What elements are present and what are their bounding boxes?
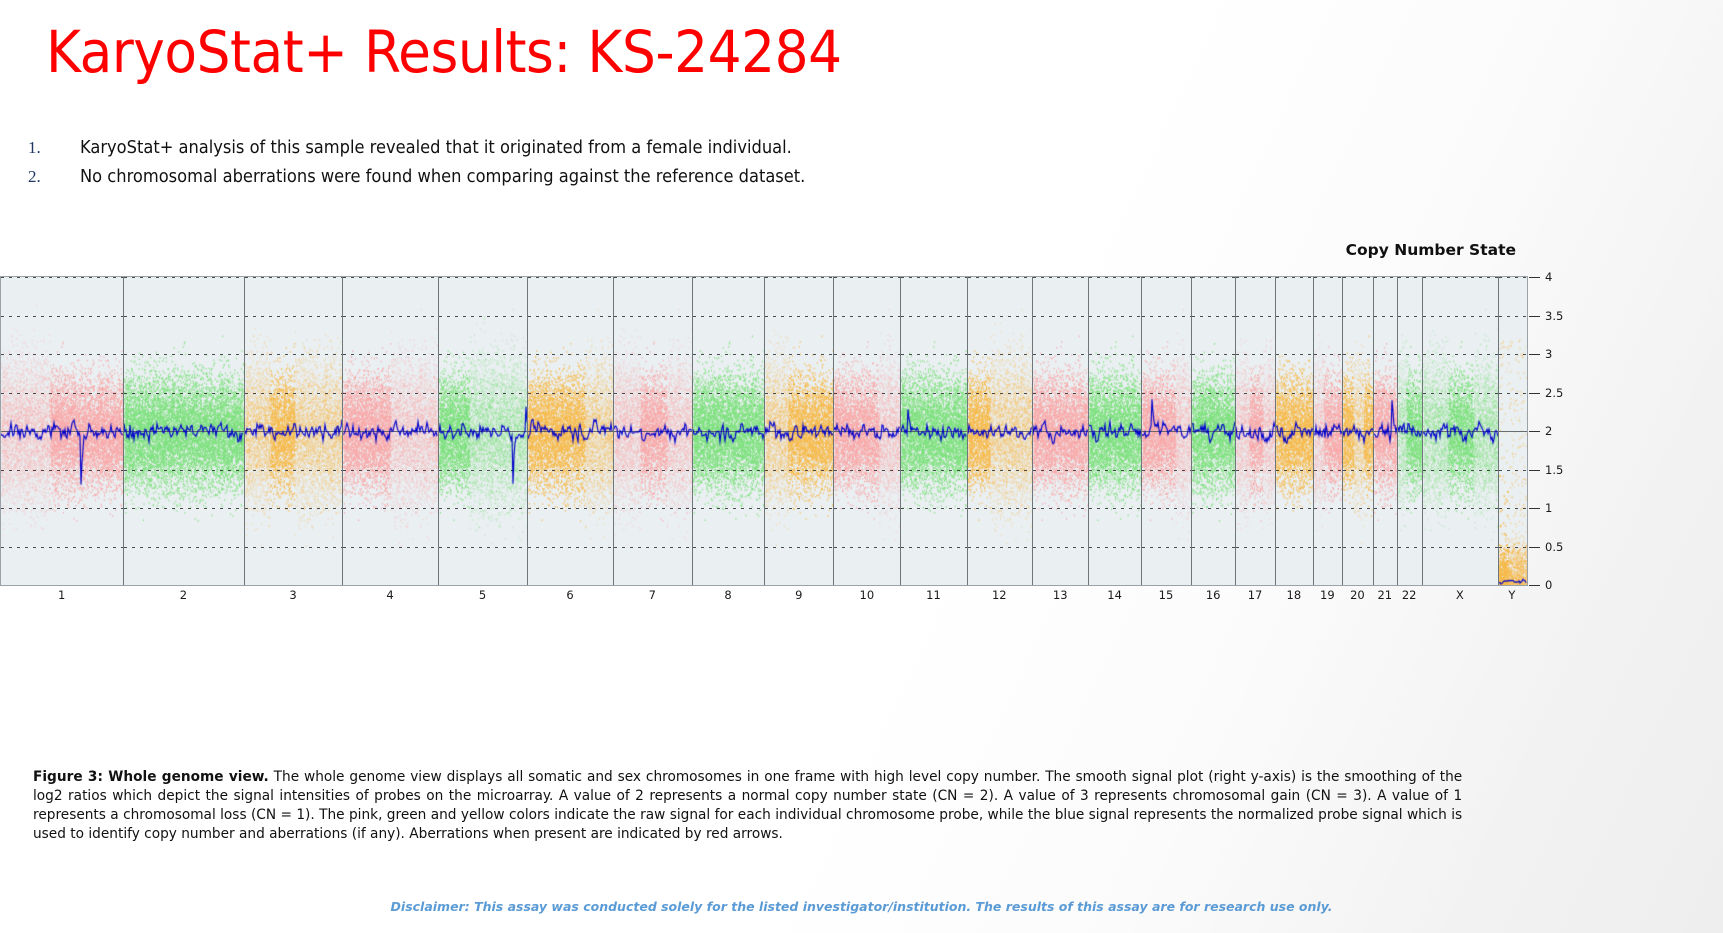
list-item-number: 1. (28, 138, 80, 158)
x-axis-label-1: 1 (58, 588, 65, 602)
smoothed-signal-line (1142, 277, 1192, 585)
chart-legend-title: Copy Number State (1346, 241, 1516, 259)
x-axis-label-20: 20 (1350, 588, 1365, 602)
chromosome-band-12 (968, 277, 1033, 585)
smoothed-signal-line (528, 277, 613, 585)
y-axis-tick-label: 4 (1545, 270, 1552, 284)
chromosome-band-9 (765, 277, 834, 585)
x-axis-label-3: 3 (289, 588, 296, 602)
smoothed-signal-line (1, 277, 124, 585)
chromosome-band-16 (1192, 277, 1236, 585)
x-axis-label-X: X (1456, 588, 1464, 602)
chromosome-band-13 (1033, 277, 1089, 585)
chart-plot-area (0, 276, 1528, 586)
chromosome-band-5 (439, 277, 529, 585)
y-axis-tick-label: 0 (1545, 578, 1552, 592)
x-axis-label-14: 14 (1107, 588, 1122, 602)
chromosome-band-Y (1499, 277, 1527, 585)
smoothed-signal-line (968, 277, 1033, 585)
y-axis-tick-label: 3.5 (1545, 309, 1563, 323)
tick-dash-icon (1529, 431, 1540, 432)
x-axis-label-19: 19 (1320, 588, 1335, 602)
smoothed-signal-line (1236, 277, 1276, 585)
tick-dash-icon (1529, 547, 1540, 548)
x-axis-label-21: 21 (1377, 588, 1392, 602)
chromosome-band-7 (614, 277, 693, 585)
x-axis-label-Y: Y (1508, 588, 1515, 602)
smoothed-signal-line (439, 277, 529, 585)
chromosome-band-11 (901, 277, 967, 585)
x-axis-label-6: 6 (566, 588, 573, 602)
y-axis-tick-3: 3 (1529, 347, 1552, 361)
smoothed-signal-line (343, 277, 438, 585)
smoothed-signal-line (1499, 277, 1527, 585)
x-axis-label-18: 18 (1287, 588, 1302, 602)
y-axis-tick-0.5: 0.5 (1529, 540, 1563, 554)
x-axis-label-13: 13 (1053, 588, 1068, 602)
y-axis: 43.532.521.510.50 (1529, 276, 1609, 586)
y-axis-tick-0: 0 (1529, 578, 1552, 592)
smoothed-signal-line (614, 277, 693, 585)
smoothed-signal-line (124, 277, 244, 585)
x-axis-label-15: 15 (1159, 588, 1174, 602)
tick-dash-icon (1529, 316, 1540, 317)
smoothed-signal-line (765, 277, 834, 585)
y-axis-tick-label: 1 (1545, 501, 1552, 515)
list-item-label: KaryoStat+ analysis of this sample revea… (80, 138, 792, 158)
x-axis-label-9: 9 (795, 588, 802, 602)
disclaimer-text: Disclaimer: This assay was conducted sol… (0, 899, 1723, 914)
y-axis-tick-2: 2 (1529, 424, 1552, 438)
chromosome-band-21 (1374, 277, 1398, 585)
y-axis-tick-label: 2 (1545, 424, 1552, 438)
figure-caption-lead: Figure 3: Whole genome view. (33, 769, 269, 785)
smoothed-signal-line (1033, 277, 1089, 585)
x-axis-label-11: 11 (926, 588, 941, 602)
tick-dash-icon (1529, 508, 1540, 509)
smoothed-signal-line (1089, 277, 1142, 585)
tick-dash-icon (1529, 393, 1540, 394)
page-title: KaryoStat+ Results: KS-24284 (46, 18, 842, 86)
smoothed-signal-line (901, 277, 967, 585)
y-axis-tick-label: 1.5 (1545, 463, 1563, 477)
x-axis-label-22: 22 (1402, 588, 1417, 602)
chromosome-band-8 (693, 277, 765, 585)
chromosome-band-X (1423, 277, 1499, 585)
smoothed-signal-line (693, 277, 765, 585)
y-axis-tick-label: 0.5 (1545, 540, 1563, 554)
x-axis-label-2: 2 (180, 588, 187, 602)
chromosome-band-17 (1236, 277, 1276, 585)
tick-dash-icon (1529, 585, 1540, 586)
y-axis-tick-3.5: 3.5 (1529, 309, 1563, 323)
x-axis-label-4: 4 (386, 588, 393, 602)
smoothed-signal-line (834, 277, 901, 585)
y-axis-tick-1: 1 (1529, 501, 1552, 515)
smoothed-signal-line (1398, 277, 1423, 585)
y-axis-tick-4: 4 (1529, 270, 1552, 284)
x-axis-chromosome-labels: 12345678910111213141516171819202122XY (0, 588, 1528, 608)
chromosome-band-4 (343, 277, 438, 585)
smoothed-signal-line (1192, 277, 1236, 585)
smoothed-signal-line (1374, 277, 1398, 585)
chromosome-band-20 (1343, 277, 1374, 585)
chromosome-band-1 (1, 277, 124, 585)
y-axis-tick-1.5: 1.5 (1529, 463, 1563, 477)
chromosome-band-18 (1276, 277, 1314, 585)
chromosome-band-6 (528, 277, 613, 585)
smoothed-signal-line (245, 277, 344, 585)
list-item-label: No chromosomal aberrations were found wh… (80, 167, 805, 187)
chromosome-band-10 (834, 277, 901, 585)
list-item: 1. KaryoStat+ analysis of this sample re… (28, 138, 1128, 158)
list-item: 2. No chromosomal aberrations were found… (28, 167, 1128, 187)
x-axis-label-12: 12 (992, 588, 1007, 602)
y-axis-tick-2.5: 2.5 (1529, 386, 1563, 400)
y-axis-tick-label: 2.5 (1545, 386, 1563, 400)
smoothed-signal-line (1343, 277, 1374, 585)
smoothed-signal-line (1314, 277, 1343, 585)
chromosome-band-14 (1089, 277, 1142, 585)
x-axis-label-5: 5 (479, 588, 486, 602)
tick-dash-icon (1529, 277, 1540, 278)
smoothed-signal-line (1276, 277, 1314, 585)
list-item-number: 2. (28, 167, 80, 187)
chromosome-band-3 (245, 277, 344, 585)
x-axis-label-16: 16 (1206, 588, 1221, 602)
chromosome-band-22 (1398, 277, 1423, 585)
x-axis-label-8: 8 (724, 588, 731, 602)
figure-caption: Figure 3: Whole genome view. The whole g… (33, 768, 1462, 844)
tick-dash-icon (1529, 354, 1540, 355)
whole-genome-figure: 43.532.521.510.50 1234567891011121314151… (0, 276, 1723, 608)
chromosome-band-19 (1314, 277, 1343, 585)
tick-dash-icon (1529, 470, 1540, 471)
summary-bullet-list: 1. KaryoStat+ analysis of this sample re… (28, 138, 1128, 196)
x-axis-label-7: 7 (649, 588, 656, 602)
x-axis-label-17: 17 (1248, 588, 1263, 602)
chromosome-band-15 (1142, 277, 1192, 585)
y-axis-tick-label: 3 (1545, 347, 1552, 361)
smoothed-signal-line (1423, 277, 1499, 585)
chromosome-band-2 (124, 277, 244, 585)
x-axis-label-10: 10 (860, 588, 875, 602)
chart-canvas (1, 277, 1527, 585)
